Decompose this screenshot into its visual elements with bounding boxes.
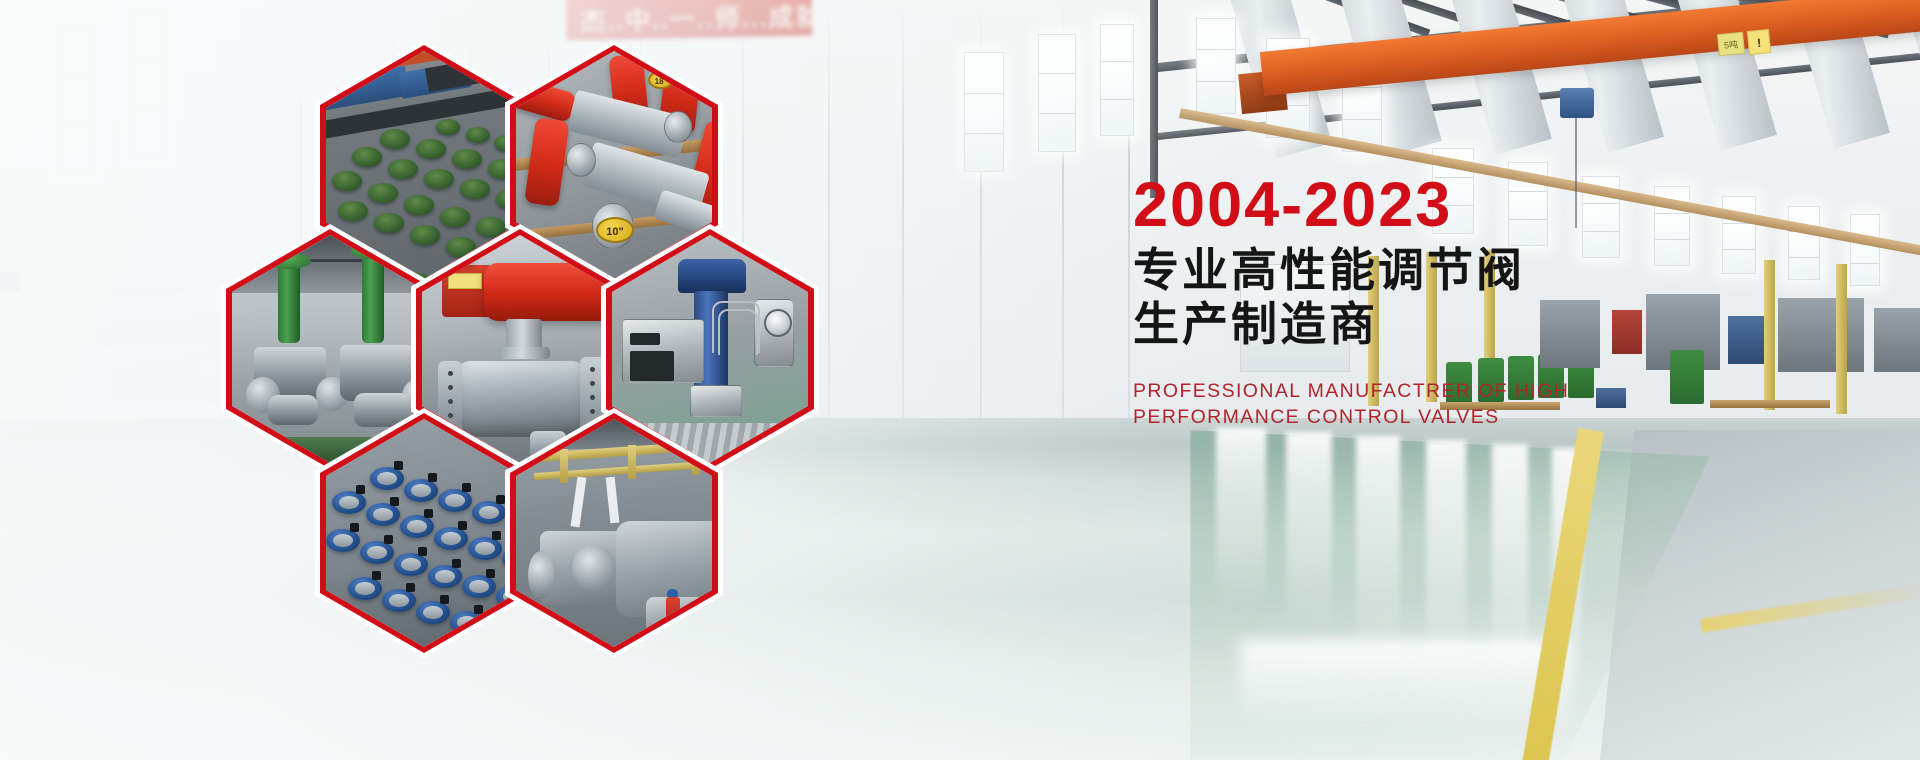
headline-zh-line-2: 生产制造商 — [1133, 297, 1893, 351]
crane-hoist — [1560, 88, 1594, 118]
subtitle-en: PROFESSIONAL MANUFACTRER OF HIGH PERFORM… — [1133, 378, 1893, 430]
crane-warning-sign — [1747, 29, 1771, 55]
hero-copy: 2004-2023 专业高性能调节阀 生产制造商 PROFESSIONAL MA… — [1133, 174, 1893, 430]
years-headline: 2004-2023 — [1133, 174, 1893, 237]
hero-banner: 5吨 — [0, 0, 1920, 760]
valve-size-tag: 10" — [596, 217, 634, 243]
hexagon-product-collage: 18" 10" — [205, 16, 845, 606]
left-area-sign: 区 — [0, 272, 20, 292]
crane-capacity-sign: 5吨 — [1717, 32, 1745, 56]
headline-zh-line-1: 专业高性能调节阀 — [1133, 243, 1893, 297]
